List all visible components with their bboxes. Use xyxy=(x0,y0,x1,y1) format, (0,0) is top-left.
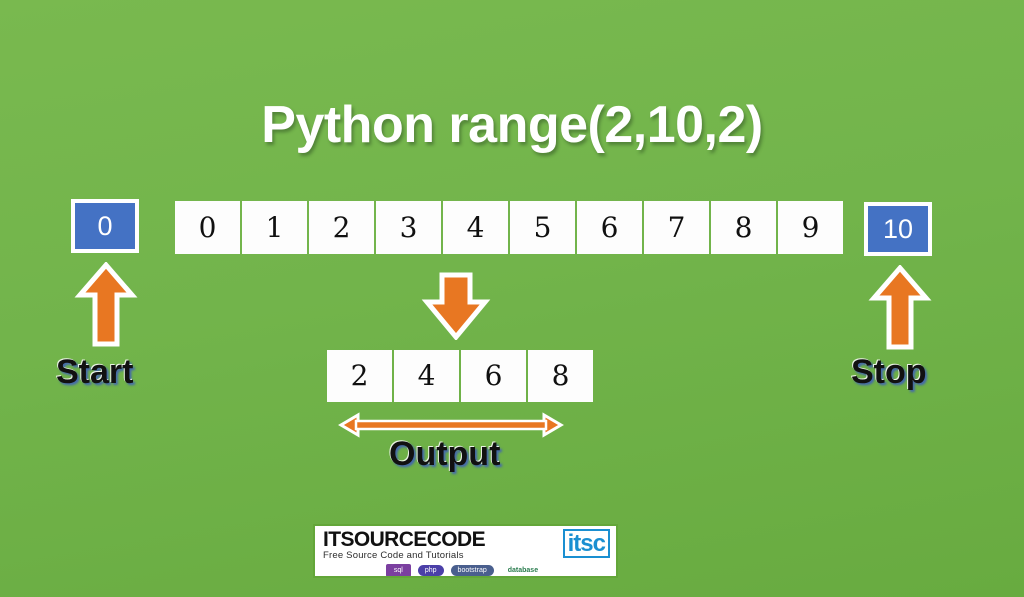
array-cell: 8 xyxy=(711,201,776,254)
stop-caption: Stop xyxy=(851,353,927,392)
page-title: Python range(2,10,2) xyxy=(0,95,1024,155)
output-array: 2 4 6 8 xyxy=(327,350,593,402)
array-cell: 2 xyxy=(309,201,374,254)
array-cell: 5 xyxy=(510,201,575,254)
badge-database: database xyxy=(501,565,545,576)
logo-name: ITSOURCECODE xyxy=(323,529,485,550)
logo-tagline: Free Source Code and Tutorials xyxy=(323,551,485,561)
stop-up-arrow-icon xyxy=(868,265,932,351)
infographic-canvas: Python range(2,10,2) 0 10 0 1 2 3 4 5 6 … xyxy=(0,0,1024,597)
badge-php: php xyxy=(418,565,444,576)
array-cell: 3 xyxy=(376,201,441,254)
main-array: 0 1 2 3 4 5 6 7 8 9 xyxy=(175,201,843,254)
logo-technology-badges: sql php bootstrap database xyxy=(315,564,616,577)
output-cell: 4 xyxy=(394,350,459,402)
stop-value-label: 10 xyxy=(883,216,913,243)
start-up-arrow-icon xyxy=(74,262,138,348)
output-cell: 2 xyxy=(327,350,392,402)
stop-value-box: 10 xyxy=(864,202,932,256)
filter-down-arrow-icon xyxy=(419,272,493,340)
badge-sql: sql xyxy=(386,564,411,577)
logo-monogram: itsc xyxy=(563,529,610,558)
array-cell: 4 xyxy=(443,201,508,254)
output-cell: 8 xyxy=(528,350,593,402)
array-cell: 0 xyxy=(175,201,240,254)
array-cell: 1 xyxy=(242,201,307,254)
start-value-box: 0 xyxy=(71,199,139,253)
array-cell: 6 xyxy=(577,201,642,254)
site-logo: ITSOURCECODE Free Source Code and Tutori… xyxy=(313,524,618,578)
start-caption: Start xyxy=(56,353,133,392)
array-cell: 9 xyxy=(778,201,843,254)
logo-wordmark: ITSOURCECODE Free Source Code and Tutori… xyxy=(323,529,485,561)
logo-top-row: ITSOURCECODE Free Source Code and Tutori… xyxy=(315,526,616,561)
badge-bootstrap: bootstrap xyxy=(451,565,494,576)
output-caption: Output xyxy=(389,435,500,474)
start-value-label: 0 xyxy=(97,213,112,240)
output-cell: 6 xyxy=(461,350,526,402)
array-cell: 7 xyxy=(644,201,709,254)
